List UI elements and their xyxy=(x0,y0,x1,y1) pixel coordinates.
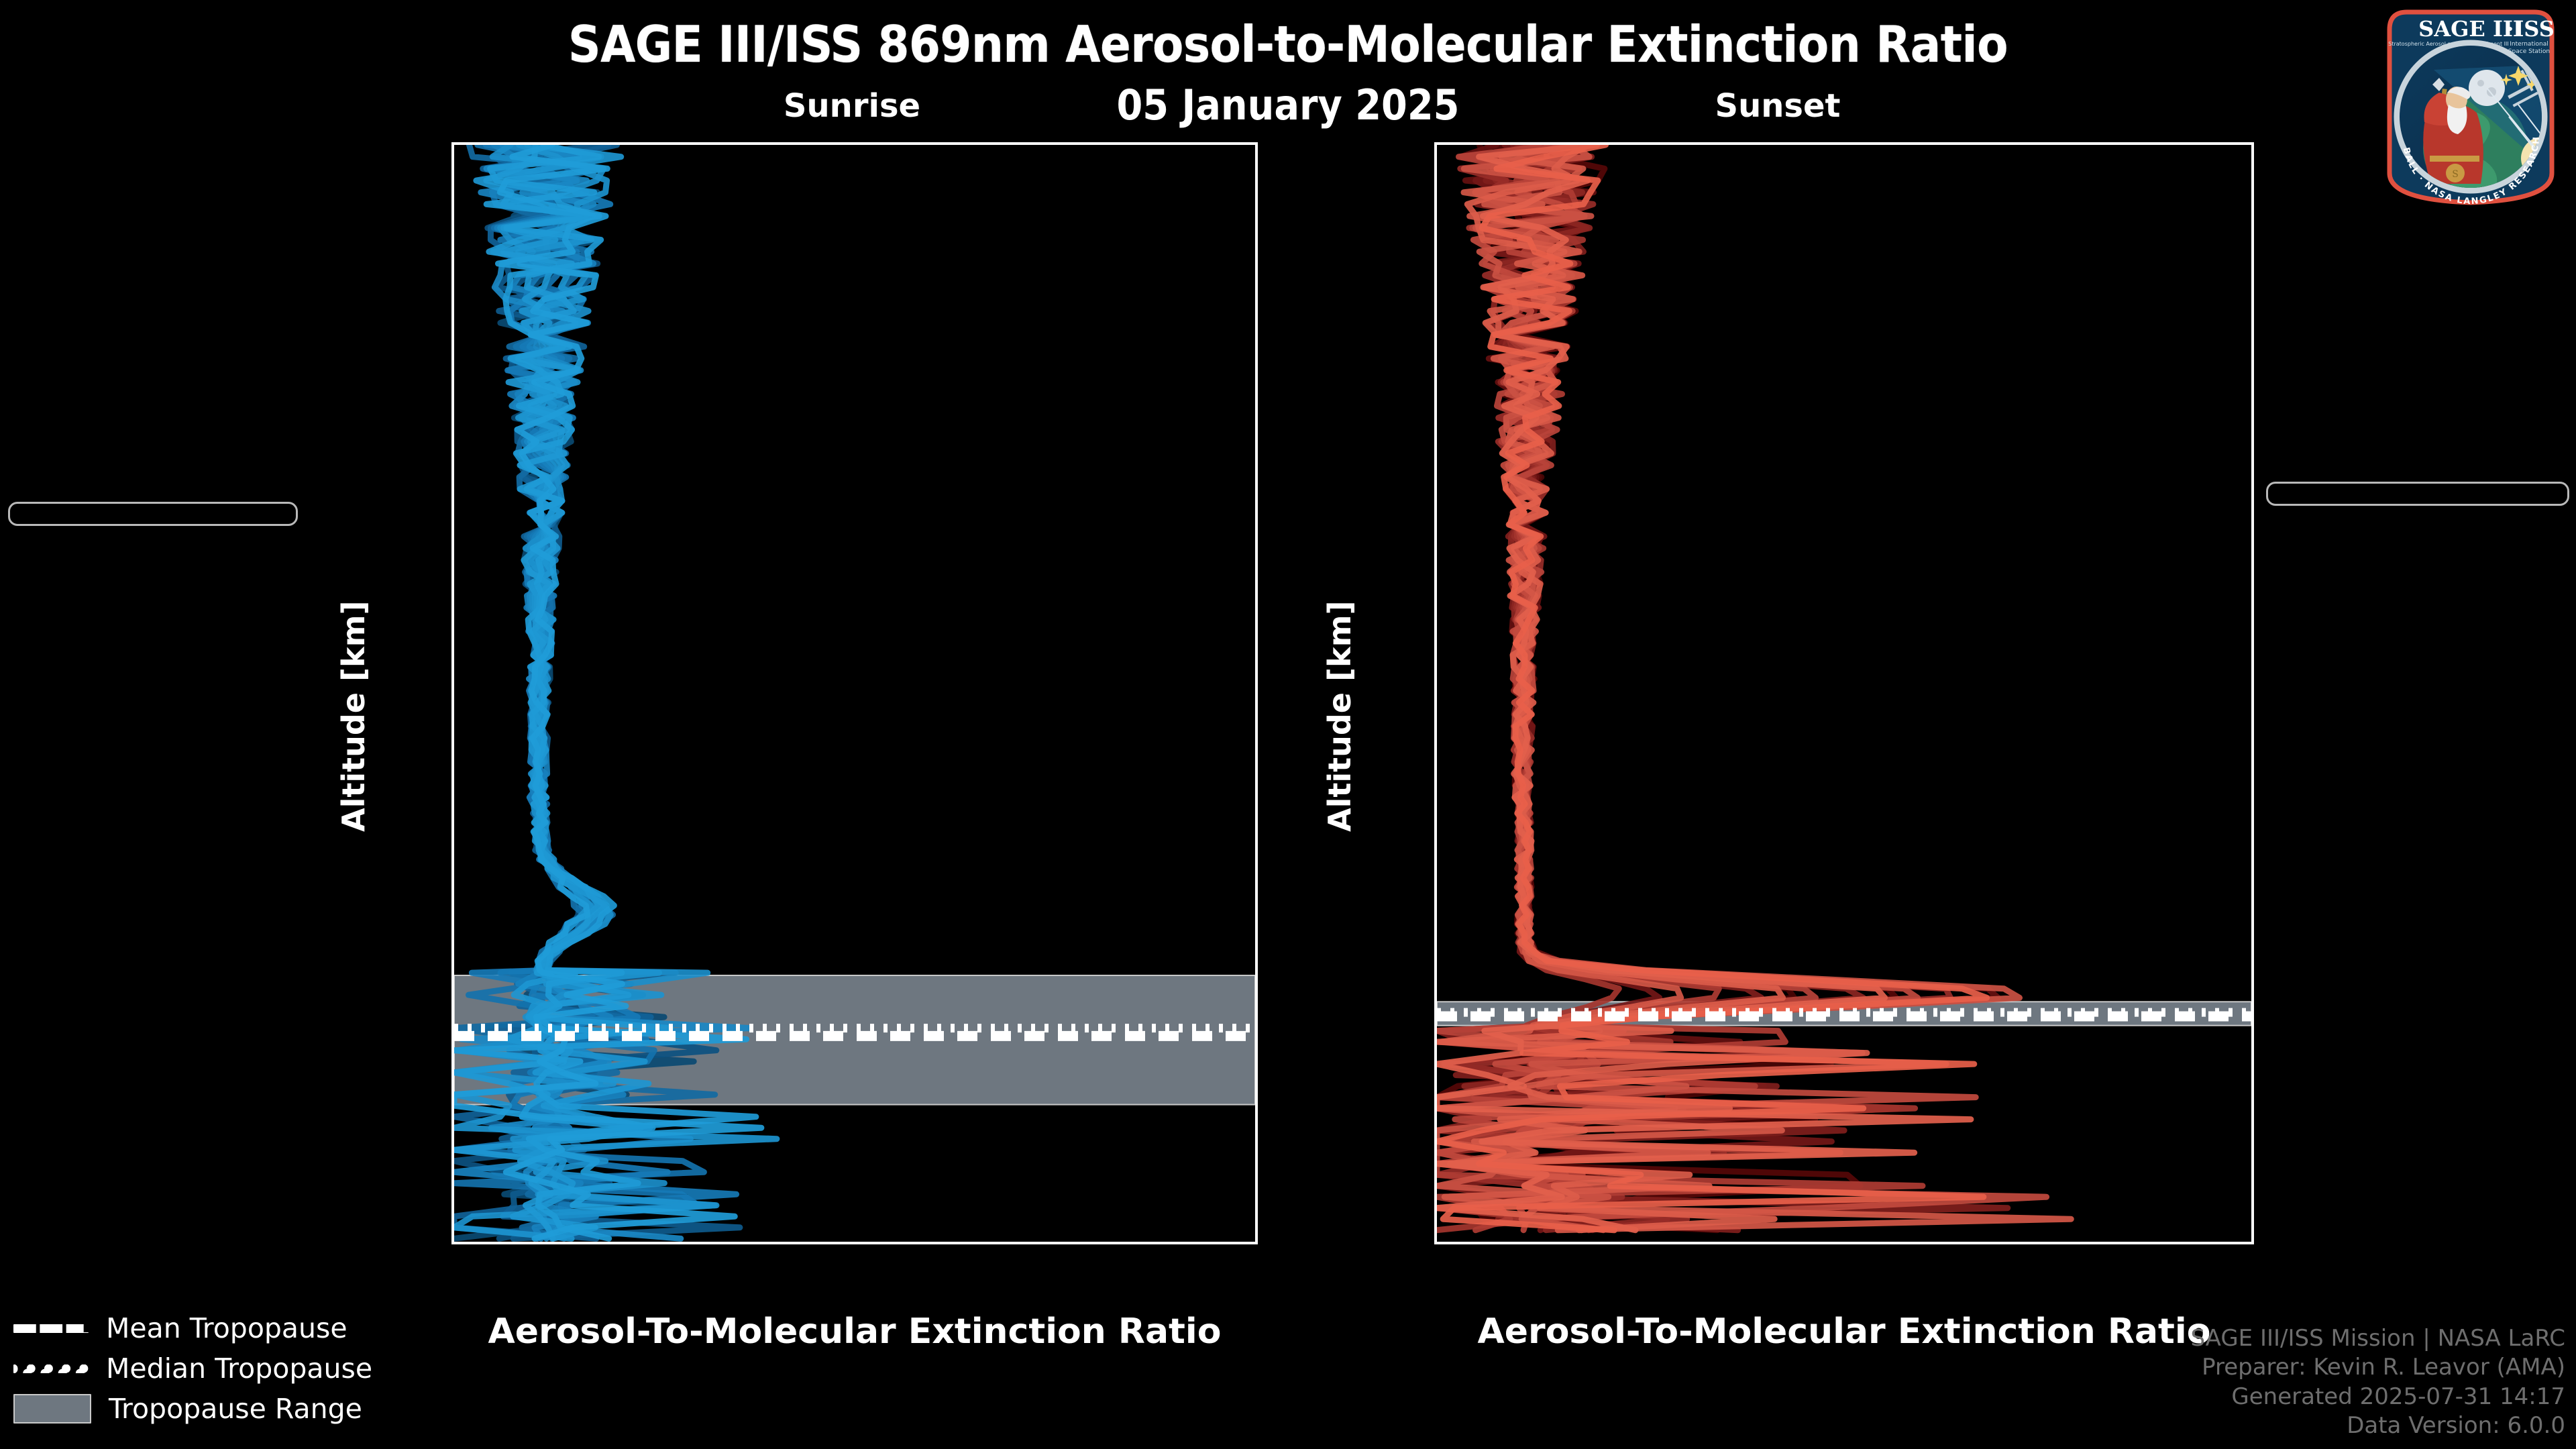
legend-item-mean-tropopause: Mean Tropopause xyxy=(13,1308,362,1348)
sunrise-x-axis-label: Aerosol-To-Molecular Extinction Ratio xyxy=(451,1311,1258,1352)
page-title: SAGE III/ISS 869nm Aerosol-to-Molecular … xyxy=(0,15,2576,74)
svg-text:S: S xyxy=(2452,169,2459,180)
legend-label-mean-tropopause: Mean Tropopause xyxy=(106,1312,347,1344)
sage-iii-iss-mission-patch-icon: SAGE III ·ISS Stratospheric Aerosol and … xyxy=(2375,4,2567,205)
sunset-y-axis-label: Altitude [km] xyxy=(1322,832,1553,868)
legend-item-median-tropopause: Median Tropopause xyxy=(13,1348,362,1389)
date-subtitle: 05 January 2025 xyxy=(0,80,2576,129)
legend-label-median-tropopause: Median Tropopause xyxy=(106,1352,372,1385)
dashed-line-icon xyxy=(13,1324,89,1333)
sunrise-legend[interactable] xyxy=(8,502,298,526)
sunrise-y-axis-label: Altitude [km] xyxy=(335,832,567,868)
sunset-plot-area xyxy=(1434,142,2254,1244)
sunrise-panel-title: Sunrise xyxy=(671,87,1033,125)
sunrise-plot-area xyxy=(451,142,1258,1244)
tropopause-legend: Mean Tropopause Median Tropopause Tropop… xyxy=(13,1308,362,1429)
credits-block: SAGE III/ISS Mission | NASA LaRC Prepare… xyxy=(2190,1324,2565,1441)
credits-line-version: Data Version: 6.0.0 xyxy=(2190,1411,2565,1441)
credits-line-generated: Generated 2025-07-31 14:17 xyxy=(2190,1383,2565,1412)
svg-text:International: International xyxy=(2510,41,2548,48)
y-axis-label-text: Altitude [km] xyxy=(335,600,372,832)
legend-label-tropopause-range: Tropopause Range xyxy=(109,1393,362,1425)
band-swatch-icon xyxy=(13,1394,91,1424)
credits-line-mission: SAGE III/ISS Mission | NASA LaRC xyxy=(2190,1324,2565,1354)
credits-line-preparer: Preparer: Kevin R. Leavor (AMA) xyxy=(2190,1353,2565,1383)
sunset-legend[interactable] xyxy=(2266,482,2569,506)
y-axis-label-text-right: Altitude [km] xyxy=(1322,600,1358,832)
legend-item-tropopause-range: Tropopause Range xyxy=(13,1389,362,1429)
dotted-line-icon xyxy=(13,1364,89,1373)
sunset-x-axis-label: Aerosol-To-Molecular Extinction Ratio xyxy=(1434,1311,2254,1352)
svg-text:·ISS: ·ISS xyxy=(2506,16,2555,42)
sunset-panel-title: Sunset xyxy=(1597,87,1959,125)
